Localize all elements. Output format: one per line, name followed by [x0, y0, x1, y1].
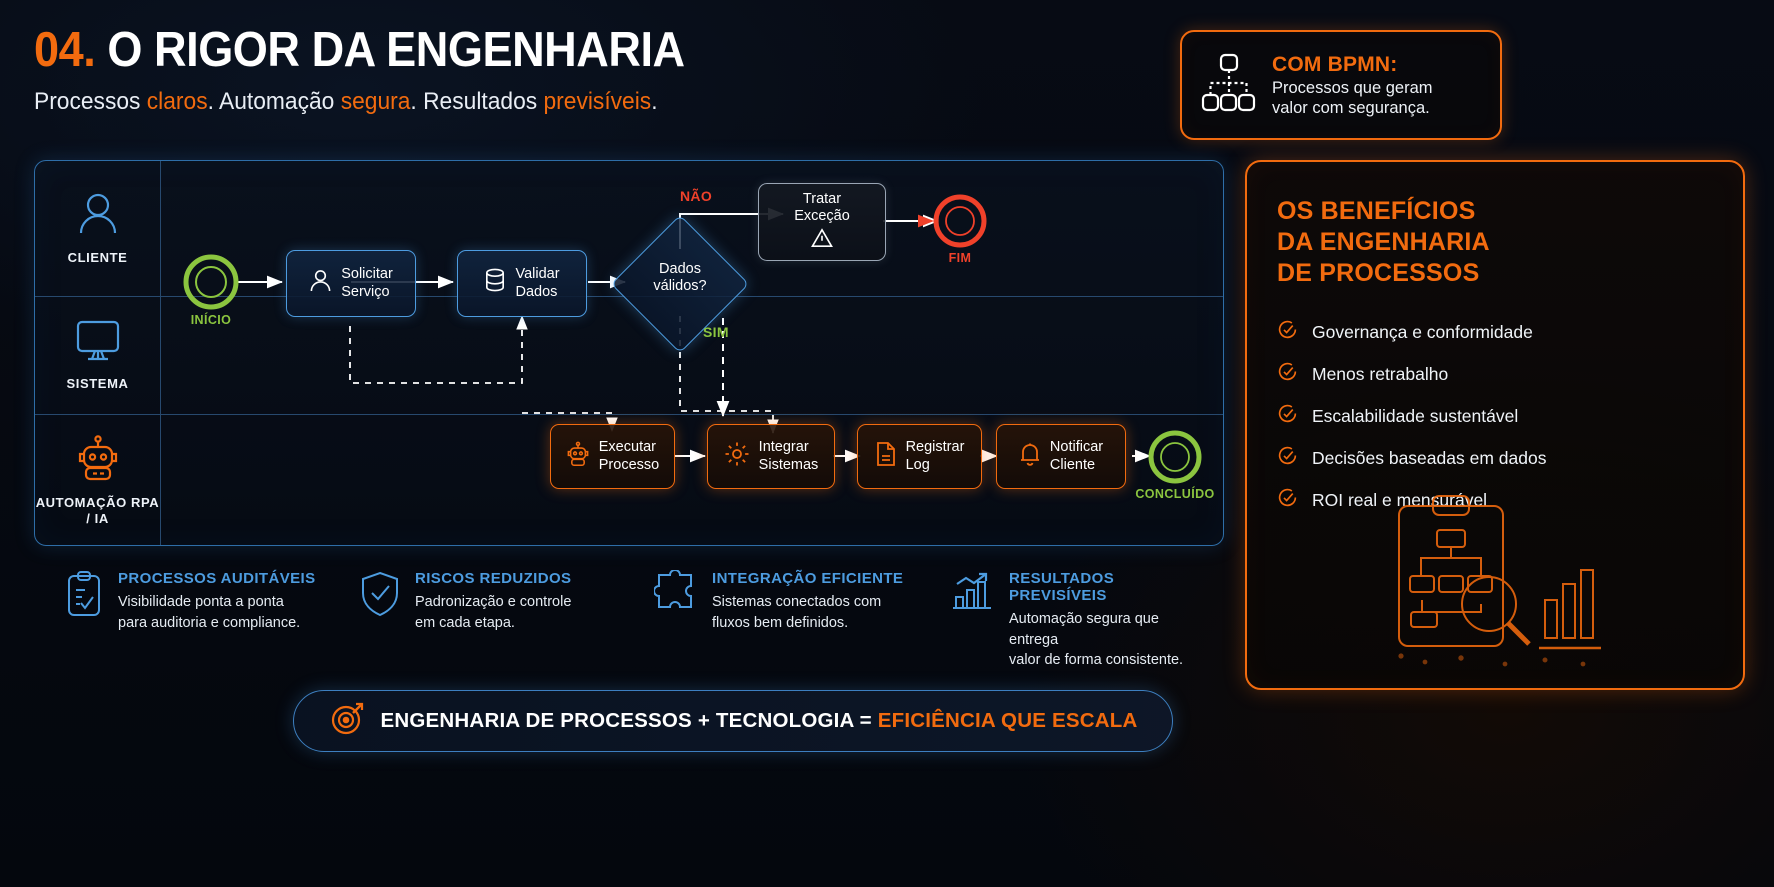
task-label: Solicitar Serviço [341, 266, 393, 300]
clipboard-magnifier-chart-illustration [1377, 488, 1607, 678]
feature-divider [341, 578, 342, 652]
user-icon [309, 268, 332, 298]
check-circle-icon [1277, 319, 1298, 345]
feature-card-resultados-previsiveis: RESULTADOS PREVISÍVEIS Automação segura … [931, 570, 1226, 670]
task-registrar-log[interactable]: Registrar Log [857, 424, 982, 489]
event-label-concluido: CONCLUÍDO [1110, 487, 1224, 501]
bpmn-badge-title: COM BPMN: [1272, 52, 1433, 78]
database-icon [484, 268, 506, 298]
check-circle-icon [1277, 403, 1298, 429]
event-fim [933, 194, 987, 248]
task-label: Tratar Exceção [794, 191, 850, 225]
task-label: Registrar Log [906, 439, 965, 473]
benefits-panel: OS BENEFÍCIOS DA ENGENHARIA DE PROCESSOS… [1245, 160, 1745, 690]
bar-chart-up-icon [949, 570, 995, 621]
flow-label-sim: SIM [703, 324, 729, 340]
gateway-label: Dados válidos? [625, 261, 735, 296]
feature-description: Visibilidade ponta a ponta para auditori… [118, 592, 315, 633]
task-executar-processo[interactable]: Executar Processo [550, 424, 675, 489]
benefit-item: Governança e conformidade [1277, 311, 1713, 353]
clipboard-check-icon [64, 570, 104, 623]
flow-label-nao: NÃO [680, 188, 712, 204]
task-solicitar-servico[interactable]: Solicitar Serviço [286, 250, 416, 317]
task-notificar-cliente[interactable]: Notificar Cliente [996, 424, 1126, 489]
org-chart-icon [1200, 52, 1258, 119]
benefit-label: Decisões baseadas em dados [1312, 448, 1546, 469]
event-label-fim: FIM [895, 251, 1025, 265]
warning-triangle-icon [811, 228, 833, 253]
task-validar-dados[interactable]: Validar Dados [457, 250, 587, 317]
subtitle-part-3: . Resultados [410, 88, 543, 115]
banner-text: ENGENHARIA DE PROCESSOS + TECNOLOGIA = E… [381, 709, 1138, 733]
page-header: 04. O RIGOR DA ENGENHARIA Processos clar… [34, 26, 741, 116]
subtitle-part-1: Processos [34, 88, 147, 115]
subtitle-highlight-3: previsíveis [543, 88, 651, 115]
benefits-title-line-3: DE PROCESSOS [1277, 258, 1713, 289]
task-label: Executar Processo [599, 439, 659, 473]
target-arrow-icon [329, 701, 365, 742]
task-tratar-excecao[interactable]: Tratar Exceção [758, 183, 886, 261]
feature-divider [931, 578, 932, 652]
banner-text-plain: ENGENHARIA DE PROCESSOS + TECNOLOGIA = [381, 709, 878, 732]
document-icon [875, 441, 897, 472]
benefits-title-line-1: OS BENEFÍCIOS [1277, 196, 1713, 227]
section-number: 04. [34, 23, 95, 77]
page-subtitle: Processos claros. Automação segura. Resu… [34, 88, 706, 116]
bpmn-badge-line-2: valor com segurança. [1272, 98, 1433, 118]
benefit-item: Menos retrabalho [1277, 353, 1713, 395]
gear-icon [724, 441, 750, 472]
benefit-label: Governança e conformidade [1312, 322, 1533, 343]
bottom-banner: ENGENHARIA DE PROCESSOS + TECNOLOGIA = E… [293, 690, 1173, 752]
feature-title: RISCOS REDUZIDOS [415, 570, 571, 587]
feature-description: Automação segura que entrega valor de fo… [1009, 609, 1208, 671]
benefit-item: Escalabilidade sustentável [1277, 395, 1713, 437]
feature-title: RESULTADOS PREVISÍVEIS [1009, 570, 1208, 604]
feature-card-riscos-reduzidos: RISCOS REDUZIDOS Padronização e controle… [341, 570, 636, 670]
feature-cards: PROCESSOS AUDITÁVEIS Visibilidade ponta … [46, 570, 1226, 670]
task-label: Validar Dados [515, 266, 559, 300]
feature-title: PROCESSOS AUDITÁVEIS [118, 570, 315, 587]
benefits-title-line-2: DA ENGENHARIA [1277, 227, 1713, 258]
bpmn-diagram: CLIENTE SISTEMA AUTOMAÇÃO R [34, 160, 1224, 546]
subtitle-highlight-1: claros [147, 88, 208, 115]
infographic-canvas: 04. O RIGOR DA ENGENHARIA Processos clar… [0, 0, 1774, 887]
feature-title: INTEGRAÇÃO EFICIENTE [712, 570, 903, 587]
robot-icon [566, 441, 590, 472]
feature-description: Sistemas conectados com fluxos bem defin… [712, 592, 903, 633]
subtitle-part-2: . Automação [208, 88, 341, 115]
bpmn-badge: COM BPMN: Processos que geram valor com … [1180, 30, 1502, 140]
task-label: Notificar Cliente [1050, 439, 1103, 473]
event-inicio [183, 254, 239, 310]
task-integrar-sistemas[interactable]: Integrar Sistemas [707, 424, 835, 489]
feature-card-processos-auditaveis: PROCESSOS AUDITÁVEIS Visibilidade ponta … [46, 570, 341, 670]
shield-check-icon [359, 570, 401, 623]
page-title-text: O RIGOR DA ENGENHARIA [107, 23, 684, 77]
benefits-title: OS BENEFÍCIOS DA ENGENHARIA DE PROCESSOS [1277, 196, 1713, 289]
event-label-inicio: INÍCIO [146, 313, 276, 327]
bell-icon [1019, 441, 1041, 472]
check-circle-icon [1277, 445, 1298, 471]
task-label: Integrar Sistemas [759, 439, 819, 473]
bpmn-badge-line-1: Processos que geram [1272, 78, 1433, 98]
subtitle-highlight-2: segura [341, 88, 411, 115]
puzzle-icon [654, 570, 698, 621]
benefit-label: Menos retrabalho [1312, 364, 1448, 385]
page-title: 04. O RIGOR DA ENGENHARIA [34, 26, 685, 76]
check-circle-icon [1277, 487, 1298, 513]
feature-description: Padronização e controle em cada etapa. [415, 592, 571, 633]
banner-text-emphasis: EFICIÊNCIA QUE ESCALA [878, 709, 1138, 732]
feature-divider [636, 578, 637, 652]
event-concluido [1148, 430, 1202, 484]
benefit-item: Decisões baseadas em dados [1277, 437, 1713, 479]
check-circle-icon [1277, 361, 1298, 387]
benefit-label: Escalabilidade sustentável [1312, 406, 1518, 427]
feature-card-integracao-eficiente: INTEGRAÇÃO EFICIENTE Sistemas conectados… [636, 570, 931, 670]
subtitle-part-4: . [651, 88, 657, 115]
